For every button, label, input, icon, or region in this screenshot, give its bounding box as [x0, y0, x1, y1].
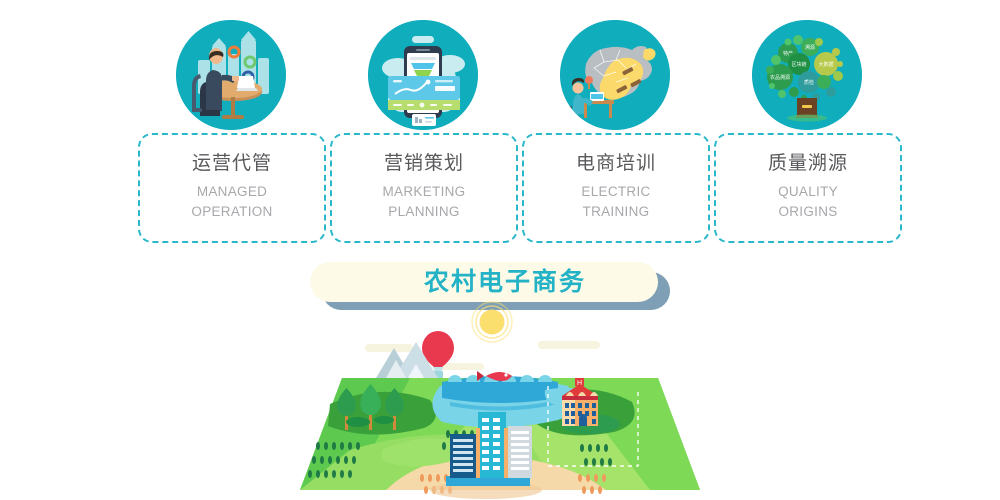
card-title-en-line2: PLANNING [383, 202, 466, 222]
svg-text:区块链: 区块链 [791, 61, 806, 68]
card-title-en-line2: ORIGINS [778, 202, 838, 222]
card-title-cn: 运营代管 [192, 154, 272, 175]
card-title-en: MANAGED OPERATION [191, 182, 272, 221]
card-title-en: QUALITY ORIGINS [778, 182, 838, 221]
card-title-cn: 质量溯源 [768, 154, 848, 175]
card-title-en-line1: ELECTRIC [581, 182, 650, 202]
card-quality-origins[interactable]: 质量溯源 QUALITY ORIGINS [714, 133, 902, 243]
svg-text:质检: 质检 [804, 79, 814, 86]
card-marketing-planning[interactable]: 营销策划 MARKETING PLANNING [330, 133, 518, 243]
card-title-cn: 营销策划 [384, 154, 464, 175]
tree-icon [337, 384, 404, 430]
card-title-cn: 电商培训 [576, 154, 656, 175]
bubble-tree-icon: 特产 溯源 区块链 大数据 农品溯源 质检 [752, 20, 862, 130]
banner-title: 农村电子商务 [310, 262, 658, 302]
icon-circle-quality-origins[interactable]: 特产 溯源 区块链 大数据 农品溯源 质检 [752, 20, 862, 130]
card-managed-operation[interactable]: 运营代管 MANAGED OPERATION [138, 133, 326, 243]
businessman-at-desk-icon [176, 20, 286, 130]
infographic-canvas: 特产 溯源 区块链 大数据 农品溯源 质检 运营代管 MANAGED OPERA… [0, 0, 1000, 500]
mobile-funnel-analytics-icon [368, 20, 478, 130]
icon-circle-managed-operation[interactable] [176, 20, 286, 130]
card-title-en-line1: QUALITY [778, 182, 838, 202]
card-electric-training[interactable]: 电商培训 ELECTRIC TRAINING [522, 133, 710, 243]
card-title-en-line2: TRAINING [581, 202, 650, 222]
card-title-en-line1: MANAGED [191, 182, 272, 202]
card-title-en: MARKETING PLANNING [383, 182, 466, 221]
icon-circle-marketing-planning[interactable] [368, 20, 478, 130]
card-title-en-line1: MARKETING [383, 182, 466, 202]
card-title-en-line2: OPERATION [191, 202, 272, 222]
sun-icon [472, 302, 512, 342]
svg-text:农品溯源: 农品溯源 [770, 74, 790, 81]
china-map-training-icon [560, 20, 670, 130]
svg-text:特产: 特产 [783, 50, 793, 57]
card-title-en: ELECTRIC TRAINING [581, 182, 650, 221]
rural-landscape-illustration: H [290, 300, 710, 500]
svg-text:溯源: 溯源 [805, 44, 815, 51]
icon-circle-electric-training[interactable] [560, 20, 670, 130]
svg-text:大数据: 大数据 [818, 61, 833, 68]
